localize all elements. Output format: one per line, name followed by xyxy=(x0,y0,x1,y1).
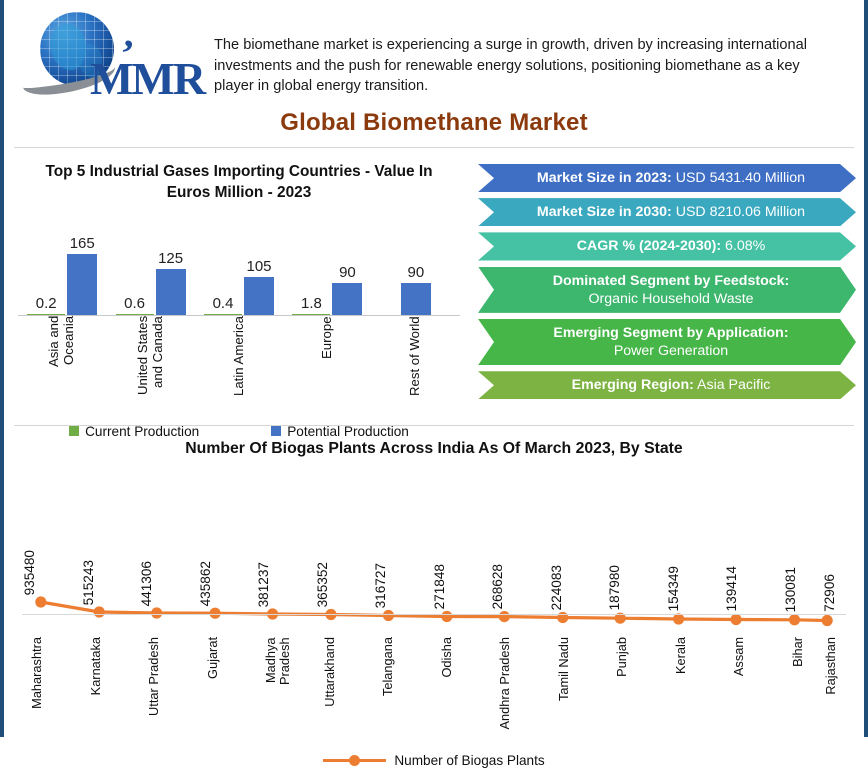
header: ’ MMR The biomethane market is experienc… xyxy=(4,0,864,105)
bar-group-2: 0.4 105 xyxy=(195,206,283,316)
banner-label-3: Dominated Segment by Feedstock: xyxy=(553,273,790,289)
state-cell-1: Karnataka xyxy=(89,637,103,700)
state-cell-9: Tamil Nadu xyxy=(557,637,585,706)
legend-label-potential-production: Potential Production xyxy=(287,424,409,439)
line-value-8: 268628 xyxy=(490,564,505,609)
page-title: Global Biomethane Market xyxy=(4,105,864,143)
bar-col-potential-3: 90 xyxy=(332,206,362,316)
legend-swatch-blue-icon xyxy=(271,426,281,436)
legend-label-biogas-plants: Number of Biogas Plants xyxy=(394,753,544,768)
bar-col-potential-0: 165 xyxy=(67,206,97,316)
bar-group-0: 0.2 165 xyxy=(18,206,106,316)
bar-group-4: 90 xyxy=(372,206,460,316)
line-value-11: 154349 xyxy=(666,566,681,611)
bar-value-potential-3: 90 xyxy=(339,264,356,281)
bar-col-current-0: 0.2 xyxy=(27,206,65,316)
state-cell-11: Kerala xyxy=(674,637,688,679)
banner-label-4: Emerging Segment by Application: xyxy=(553,325,788,341)
bar-value-current-3: 1.8 xyxy=(301,295,322,312)
bar-col-potential-2: 105 xyxy=(244,206,274,316)
banner-value-0: USD 5431.40 Million xyxy=(676,170,805,186)
line-value-10: 187980 xyxy=(607,565,622,610)
state-cell-4: Madhya Pradesh xyxy=(264,637,292,694)
legend-item-potential-production: Potential Production xyxy=(271,424,409,439)
bar-chart-title: Top 5 Industrial Gases Importing Countri… xyxy=(4,154,474,204)
legend-swatch-green-icon xyxy=(69,426,79,436)
bar-col-current-1: 0.6 xyxy=(116,206,154,316)
line-value-6: 316727 xyxy=(373,563,388,608)
bar-chart-legend: Current Production Potential Production xyxy=(4,416,474,439)
state-cell-10: Punjab xyxy=(615,637,629,682)
line-series-svg xyxy=(22,462,846,637)
bar-x-label-3: Europe xyxy=(320,316,335,414)
banner-market-size-2030: Market Size in 2030: USD 8210.06 Million xyxy=(478,198,856,226)
line-value-12: 139414 xyxy=(724,566,739,611)
bar-x-cell-2: Latin America xyxy=(195,316,283,416)
bar-x-cell-3: Europe xyxy=(283,316,371,416)
state-cell-5: Uttarakhand xyxy=(323,637,337,712)
line-value-13: 130081 xyxy=(783,567,798,612)
bar-group-3: 1.8 90 xyxy=(283,206,371,316)
infographic-page: ’ MMR The biomethane market is experienc… xyxy=(0,0,868,737)
line-chart-legend: Number of Biogas Plants xyxy=(4,749,864,768)
banner-emerging-segment-application: Emerging Segment by Application: Power G… xyxy=(478,319,856,365)
banner-market-size-2023: Market Size in 2023: USD 5431.40 Million xyxy=(478,164,856,192)
legend-item-current-production: Current Production xyxy=(69,424,199,439)
line-x-axis-labels: Maharashtra Karnataka Uttar Pradesh Guja… xyxy=(22,637,846,749)
bar-value-potential-0: 165 xyxy=(70,235,95,252)
line-value-0: 935480 xyxy=(22,550,37,595)
line-value-3: 435862 xyxy=(198,561,213,606)
bar-x-cell-0: Asia and Oceania xyxy=(18,316,106,416)
bar-x-label-4: Rest of World xyxy=(408,316,423,414)
upper-section: Top 5 Industrial Gases Importing Countri… xyxy=(4,148,864,425)
banner-value-5: Asia Pacific xyxy=(697,377,770,393)
banner-value-3: Organic Household Waste xyxy=(588,291,753,307)
bar-chart: Top 5 Industrial Gases Importing Countri… xyxy=(4,154,474,425)
legend-label-current-production: Current Production xyxy=(85,424,199,439)
banner-cagr: CAGR % (2024-2030): 6.08% xyxy=(478,232,856,260)
banner-label-0: Market Size in 2023: xyxy=(537,170,672,186)
state-cell-3: Gujarat xyxy=(206,637,220,684)
bar-value-potential-4: 90 xyxy=(407,264,424,281)
bar-value-current-0: 0.2 xyxy=(36,295,57,312)
state-cell-12: Assam xyxy=(732,637,746,681)
state-cell-14: Rajasthan xyxy=(824,637,838,700)
banner-dominated-segment-feedstock: Dominated Segment by Feedstock: Organic … xyxy=(478,267,856,313)
banner-label-2: CAGR % (2024-2030): xyxy=(577,238,721,254)
bar-col-potential-1: 125 xyxy=(156,206,186,316)
bar-potential-0 xyxy=(67,254,97,316)
bar-value-current-1: 0.6 xyxy=(124,295,145,312)
banner-value-4: Power Generation xyxy=(614,343,728,359)
banner-label-1: Market Size in 2030: xyxy=(537,204,672,220)
line-chart-plot: 935480 515243 441306 435862 381237 36535… xyxy=(22,462,846,637)
bar-potential-4 xyxy=(401,283,431,316)
line-value-4: 381237 xyxy=(256,562,271,607)
key-metrics-banners: Market Size in 2023: USD 5431.40 Million… xyxy=(474,154,864,425)
state-cell-6: Telangana xyxy=(381,637,395,701)
bar-potential-1 xyxy=(156,269,186,316)
bar-x-label-1: United States and Canada xyxy=(136,316,166,414)
state-cell-7: Odisha xyxy=(440,637,454,683)
legend-line-marker-icon xyxy=(323,755,386,766)
bar-group-1: 0.6 125 xyxy=(106,206,194,316)
brand-name: MMR xyxy=(90,52,204,105)
line-value-1: 515243 xyxy=(81,560,96,605)
bar-chart-plot: 0.2 165 0.6 xyxy=(18,206,460,316)
bar-value-current-2: 0.4 xyxy=(213,295,234,312)
bar-potential-2 xyxy=(244,277,274,316)
banner-value-2: 6.08% xyxy=(725,238,765,254)
state-cell-2: Uttar Pradesh xyxy=(147,637,175,721)
bar-x-cell-1: United States and Canada xyxy=(106,316,194,416)
state-cell-8: Andhra Pradesh xyxy=(498,637,526,734)
bar-col-current-3: 1.8 xyxy=(292,206,330,316)
banner-value-1: USD 8210.06 Million xyxy=(676,204,805,220)
banner-label-5: Emerging Region: xyxy=(572,377,694,393)
bar-value-potential-2: 105 xyxy=(247,258,272,275)
banner-emerging-region: Emerging Region: Asia Pacific xyxy=(478,371,856,399)
bar-groups: 0.2 165 0.6 xyxy=(18,206,460,316)
bar-x-label-2: Latin America xyxy=(232,316,247,414)
mmr-logo: ’ MMR xyxy=(18,8,198,108)
bar-col-current-2: 0.4 xyxy=(204,206,242,316)
bar-x-axis-labels: Asia and Oceania United States and Canad… xyxy=(18,316,460,416)
line-chart: Number Of Biogas Plants Across India As … xyxy=(4,426,864,768)
intro-paragraph: The biomethane market is experiencing a … xyxy=(198,8,850,97)
line-value-14: 72906 xyxy=(822,574,837,612)
bar-col-potential-4: 90 xyxy=(401,206,431,316)
bar-x-label-0: Asia and Oceania xyxy=(47,316,77,414)
state-cell-0: Maharashtra xyxy=(30,637,44,714)
state-cell-13: Bihar xyxy=(791,637,805,672)
line-value-5: 365352 xyxy=(315,562,330,607)
line-value-2: 441306 xyxy=(139,561,154,606)
line-value-7: 271848 xyxy=(432,564,447,609)
bar-potential-3 xyxy=(332,283,362,316)
line-value-9: 224083 xyxy=(549,565,564,610)
bar-value-potential-1: 125 xyxy=(158,250,183,267)
line-baseline xyxy=(22,614,846,615)
bar-x-cell-4: Rest of World xyxy=(372,316,460,416)
